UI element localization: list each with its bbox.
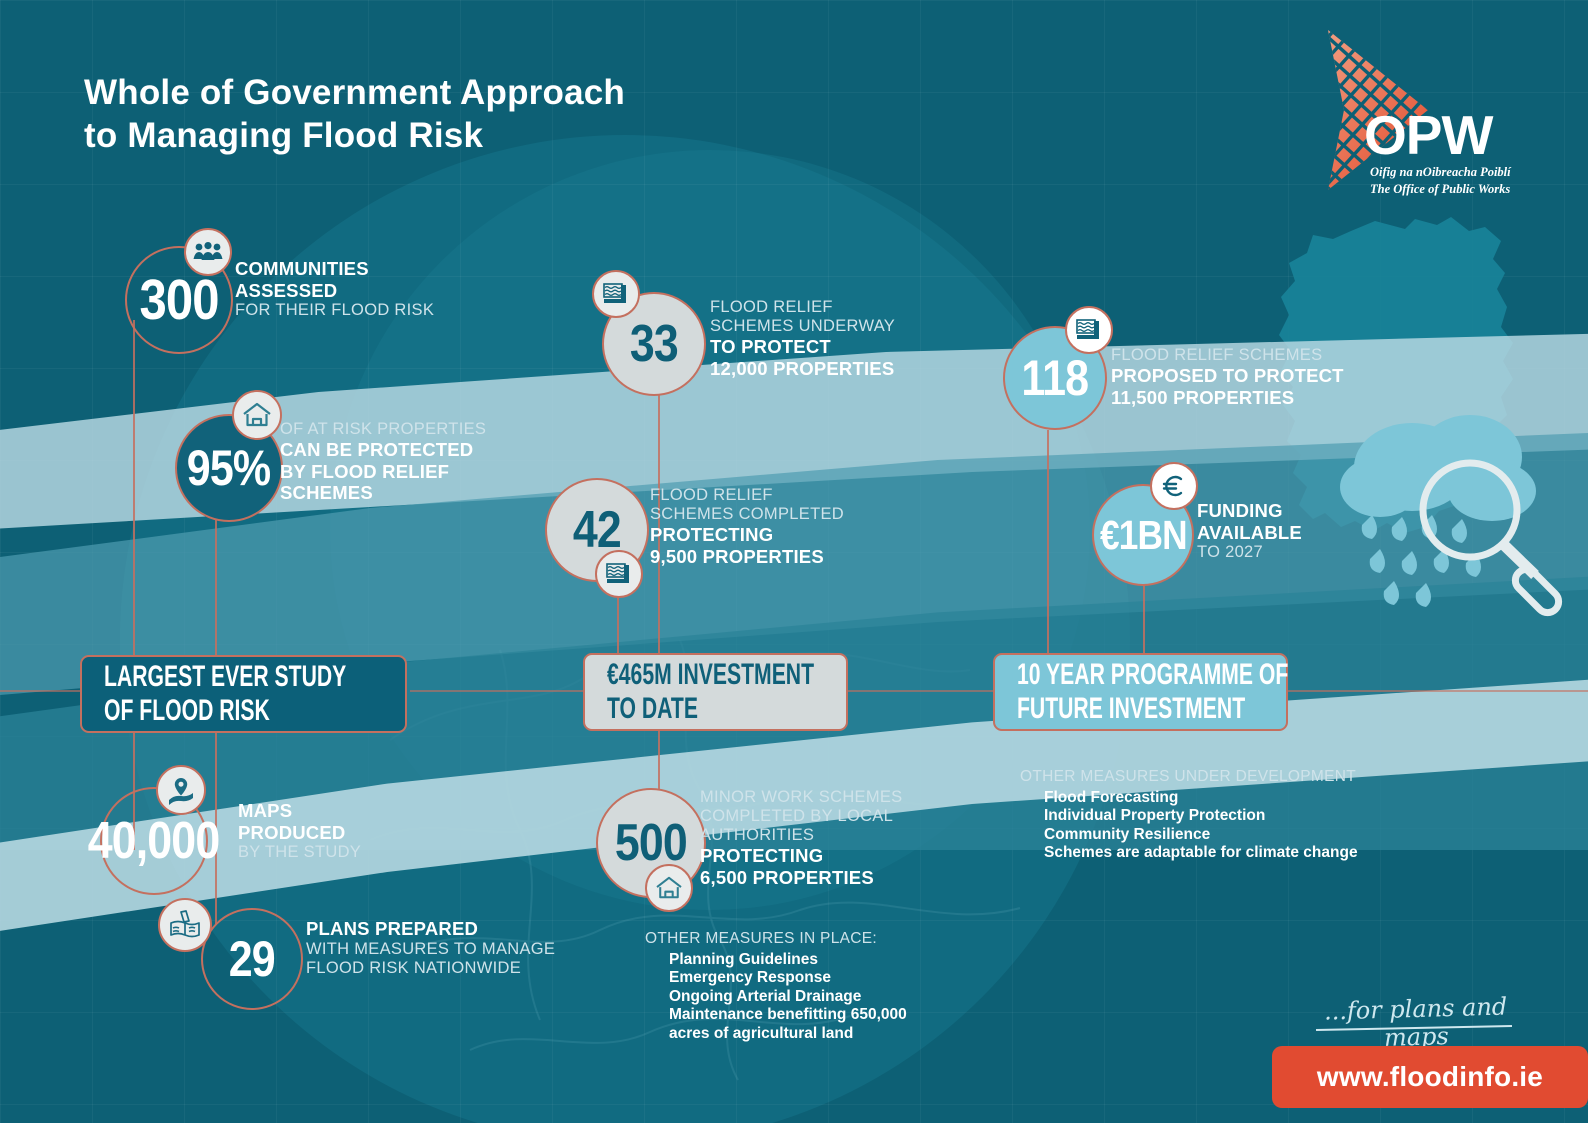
- stat-proposed-label: FLOOD RELIEF SCHEMES PROPOSED TO PROTECT…: [1111, 346, 1451, 408]
- flood-defence-icon-glyph: [605, 562, 633, 586]
- stat-minor-works-line2: COMPLETED BY LOCAL: [700, 807, 1040, 826]
- stat-minor-works-line1: MINOR WORK SCHEMES: [700, 788, 1040, 807]
- stat-completed-line3: PROTECTING: [650, 524, 980, 546]
- stat-proposed-value: 118: [1022, 353, 1089, 403]
- footer-script-text: ...for plans and maps: [1309, 992, 1522, 1054]
- stat-plans-label: PLANS PREPARED WITH MEASURES TO MANAGE F…: [306, 918, 686, 978]
- stat-underway-line1: FLOOD RELIEF: [710, 298, 1030, 317]
- stat-underway-line3: TO PROTECT: [710, 336, 1030, 358]
- stat-underway-line2: SCHEMES UNDERWAY: [710, 317, 1030, 336]
- website-url-button[interactable]: www.floodinfo.ie: [1272, 1046, 1588, 1108]
- stat-communities-value: 300: [139, 272, 218, 329]
- page-title-line2: to Managing Flood Risk: [84, 115, 784, 158]
- stat-protected-value: 95%: [187, 443, 270, 493]
- stat-minor-works-line3: AUTHORITIES: [700, 826, 1040, 845]
- page-title-line1: Whole of Government Approach: [84, 72, 784, 115]
- house-icon: [645, 864, 693, 912]
- stat-underway-label: FLOOD RELIEF SCHEMES UNDERWAY TO PROTECT…: [710, 298, 1030, 380]
- stat-minor-works-label: MINOR WORK SCHEMES COMPLETED BY LOCAL AU…: [700, 788, 1040, 889]
- stat-completed-value: 42: [573, 504, 621, 556]
- connector-line-gap-2: [848, 690, 993, 692]
- connector-line-mid-b: [617, 595, 619, 660]
- banner-programme[interactable]: 10 YEAR PROGRAMME OF FUTURE INVESTMENT: [993, 653, 1288, 731]
- stat-plans-circle: 29: [201, 908, 303, 1010]
- connector-line-mid-c: [658, 730, 660, 790]
- stat-maps-line3: BY THE STUDY: [238, 843, 538, 862]
- banner-largest-study[interactable]: LARGEST EVER STUDY OF FLOOD RISK: [80, 655, 407, 733]
- house-icon-glyph: [655, 876, 683, 900]
- list-item: Planning Guidelines: [669, 951, 1065, 969]
- banner-programme-line1: 10 YEAR PROGRAMME OF: [1017, 658, 1288, 692]
- stat-protected-line1: OF AT RISK PROPERTIES: [280, 420, 640, 439]
- measures-under-development-list: Flood Forecasting Individual Property Pr…: [1020, 789, 1500, 863]
- banner-study-line1: LARGEST EVER STUDY: [104, 660, 346, 694]
- flood-defence-icon: [1065, 306, 1113, 354]
- stat-proposed-line3: 11,500 PROPERTIES: [1111, 387, 1451, 409]
- plan-book-icon: [158, 898, 212, 952]
- flood-defence-icon-glyph: [602, 282, 630, 306]
- stat-protected-line2: CAN BE PROTECTED: [280, 439, 640, 461]
- map-pin-icon-glyph: [166, 775, 196, 805]
- flood-defence-icon-glyph: [1075, 318, 1103, 342]
- stat-communities-line1: COMMUNITIES: [235, 258, 555, 280]
- map-pin-icon: [156, 765, 206, 815]
- house-icon: [232, 390, 282, 440]
- people-icon-glyph: [193, 242, 223, 262]
- stat-plans-line2: WITH MEASURES TO MANAGE: [306, 940, 686, 959]
- list-item: Maintenance benefitting 650,000: [669, 1006, 1065, 1024]
- stat-minor-works-value: 500: [615, 817, 687, 869]
- opw-logo-subtitle-irish: Oifig na nOibreacha Poiblí: [1370, 164, 1511, 181]
- stat-funding-value: €1BN: [1100, 515, 1187, 556]
- connector-line-right-a: [1047, 430, 1049, 660]
- stat-plans-line1: PLANS PREPARED: [306, 918, 686, 940]
- banner-investment[interactable]: €465M INVESTMENT TO DATE: [583, 653, 848, 731]
- stat-communities-line3: FOR THEIR FLOOD RISK: [235, 301, 555, 320]
- stat-minor-works-line5: 6,500 PROPERTIES: [700, 867, 1040, 889]
- plan-book-icon-glyph: [168, 909, 202, 941]
- list-item: Ongoing Arterial Drainage: [669, 988, 1065, 1006]
- flood-defence-icon: [595, 550, 643, 598]
- connector-line-gap-1: [410, 690, 585, 692]
- opw-logo-subtitle-english: The Office of Public Works: [1370, 181, 1511, 198]
- stat-proposed-line1: FLOOD RELIEF SCHEMES: [1111, 346, 1451, 365]
- measures-in-place-list: Planning Guidelines Emergency Response O…: [645, 951, 1065, 1043]
- stat-funding-label: FUNDING AVAILABLE TO 2027: [1197, 500, 1457, 562]
- opw-logo-text: OPW: [1364, 108, 1492, 163]
- stat-underway-line4: 12,000 PROPERTIES: [710, 358, 1030, 380]
- measures-in-place-heading: OTHER MEASURES IN PLACE:: [645, 930, 1065, 948]
- connector-line-right-b: [1143, 575, 1145, 660]
- stat-funding-line1: FUNDING: [1197, 500, 1457, 522]
- opw-logo-subtitle: Oifig na nOibreacha Poiblí The Office of…: [1370, 164, 1511, 197]
- website-url-label: www.floodinfo.ie: [1317, 1061, 1543, 1093]
- opw-logo[interactable]: OPW Oifig na nOibreacha Poiblí The Offic…: [1300, 24, 1565, 209]
- stat-plans-value: 29: [229, 934, 275, 984]
- banner-study-line2: OF FLOOD RISK: [104, 694, 346, 728]
- list-item: Community Resilience: [1044, 826, 1500, 844]
- list-item: Emergency Response: [669, 969, 1065, 987]
- stat-maps-line2: PRODUCED: [238, 822, 538, 844]
- euro-icon-glyph: [1161, 473, 1187, 499]
- stat-proposed-line2: PROPOSED TO PROTECT: [1111, 365, 1451, 387]
- banner-investment-line2: TO DATE: [607, 692, 814, 726]
- people-icon: [184, 228, 232, 276]
- banner-programme-line2: FUTURE INVESTMENT: [1017, 692, 1288, 726]
- stat-communities-label: COMMUNITIES ASSESSED FOR THEIR FLOOD RIS…: [235, 258, 555, 320]
- banner-investment-line1: €465M INVESTMENT: [607, 658, 814, 692]
- stat-completed-label: FLOOD RELIEF SCHEMES COMPLETED PROTECTIN…: [650, 486, 980, 568]
- measures-in-place: OTHER MEASURES IN PLACE: Planning Guidel…: [645, 930, 1065, 1043]
- list-item: Flood Forecasting: [1044, 789, 1500, 807]
- list-item: Individual Property Protection: [1044, 807, 1500, 825]
- stat-minor-works-line4: PROTECTING: [700, 845, 1040, 867]
- euro-icon: [1150, 462, 1198, 510]
- stat-funding-line2: AVAILABLE: [1197, 522, 1457, 544]
- measures-under-development-heading: OTHER MEASURES UNDER DEVELOPMENT: [1020, 768, 1500, 786]
- stat-completed-line2: SCHEMES COMPLETED: [650, 505, 980, 524]
- stat-plans-line3: FLOOD RISK NATIONWIDE: [306, 959, 686, 978]
- stat-funding-line3: TO 2027: [1197, 543, 1457, 562]
- stat-underway-value: 33: [630, 318, 678, 370]
- stat-completed-line1: FLOOD RELIEF: [650, 486, 980, 505]
- house-icon-glyph: [242, 402, 272, 428]
- connector-line-edge-left: [0, 690, 90, 692]
- connector-line-left-a: [133, 320, 135, 660]
- page-title: Whole of Government Approach to Managing…: [84, 72, 784, 157]
- measures-under-development: OTHER MEASURES UNDER DEVELOPMENT Flood F…: [1020, 768, 1500, 863]
- list-item: acres of agricultural land: [669, 1025, 1065, 1043]
- infographic-poster: Whole of Government Approach to Managing…: [0, 0, 1588, 1123]
- stat-maps-value: 40,000: [88, 815, 220, 867]
- flood-defence-icon: [592, 270, 640, 318]
- stat-communities-line2: ASSESSED: [235, 280, 555, 302]
- stat-maps-label: MAPS PRODUCED BY THE STUDY: [238, 800, 538, 862]
- stat-completed-line4: 9,500 PROPERTIES: [650, 546, 980, 568]
- list-item: Schemes are adaptable for climate change: [1044, 844, 1500, 862]
- stat-maps-line1: MAPS: [238, 800, 538, 822]
